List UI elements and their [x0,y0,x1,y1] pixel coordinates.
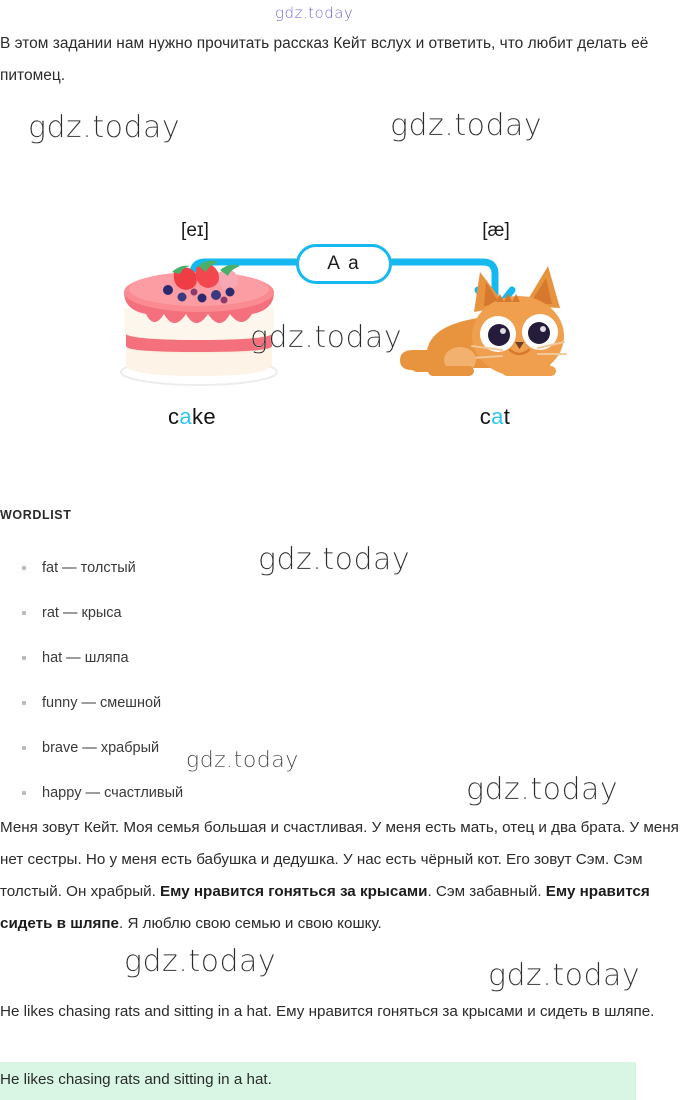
word-cat-suffix: t [504,404,511,429]
cat-illustration [398,250,584,390]
phoneme-left: [eɪ] [135,220,255,242]
story-text: . Сэм забавный. [427,883,545,900]
word-label-cake: cake [92,404,292,430]
word-cat-vowel: a [491,404,504,429]
story-emphasis: Ему нравится гоняться за крысами [160,883,427,900]
story-paragraph: Меня зовут Кейт. Моя семья большая и сча… [0,812,680,940]
word-cake-suffix: ke [192,404,216,429]
watermark: gdz.today [488,958,640,993]
wordlist-title: WORDLIST [0,508,71,522]
wordlist-item: brave — храбрый [18,738,418,783]
wordlist-item: hat — шляпа [18,648,418,693]
phoneme-right: [æ] [436,220,556,242]
task-intro-text: В этом задании нам нужно прочитать расск… [0,28,680,92]
watermark: gdz.today [275,4,353,22]
watermark: gdz.today [466,772,618,807]
word-label-cat: cat [395,404,595,430]
answer-highlighted: He likes chasing rats and sitting in a h… [0,1062,636,1100]
wordlist-item: rat — крыса [18,603,418,648]
word-cake-vowel: a [179,404,192,429]
letter-bubble: A a [296,244,392,284]
worksheet-page: В этом задании нам нужно прочитать расск… [0,0,680,1098]
cake-illustration [110,252,288,388]
word-cat-prefix: c [480,404,491,429]
answer-bilingual: He likes chasing rats and sitting in a h… [0,996,680,1028]
wordlist-item: funny — смешной [18,693,418,738]
wordlist: fat — толстыйrat — крысаhat — шляпаfunny… [18,558,418,828]
word-cake-prefix: c [168,404,179,429]
wordlist-item: fat — толстый [18,558,418,603]
story-text: . Я люблю свою семью и свою кошку. [119,915,382,932]
pronunciation-diagram: A a [0,104,680,254]
watermark: gdz.today [124,944,276,979]
